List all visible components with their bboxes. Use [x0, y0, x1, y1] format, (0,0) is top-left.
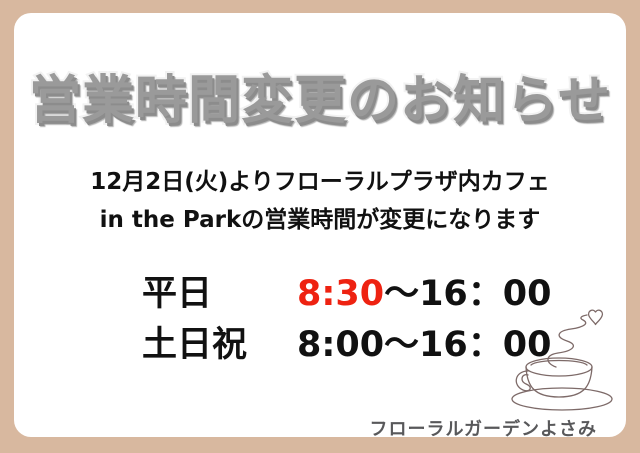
- hours-range-weekend-holiday: 8:00〜16：00: [297, 325, 551, 365]
- business-hours-list: 平日 8:30〜16：00 土日祝 8:00〜16：00: [142, 265, 542, 367]
- announcement-body: 12月2日(火)よりフローラルプラザ内カフェ in the Parkの営業時間が…: [14, 163, 626, 239]
- announcement-line-2: in the Parkの営業時間が変更になります: [14, 201, 626, 239]
- hours-label-weekday: 平日: [142, 265, 297, 316]
- hours-open-time-weekday: 8:30: [297, 274, 384, 314]
- hours-value-weekend-holiday: 8:00〜16：00: [297, 316, 551, 367]
- hours-row-weekend-holiday: 土日祝 8:00〜16：00: [142, 316, 542, 367]
- page-title-container: 営業時間変更のお知らせ: [14, 58, 626, 133]
- poster-card: 営業時間変更のお知らせ 12月2日(火)よりフローラルプラザ内カフェ in th…: [14, 13, 626, 437]
- poster-background: 営業時間変更のお知らせ 12月2日(火)よりフローラルプラザ内カフェ in th…: [0, 0, 640, 453]
- hours-row-weekday: 平日 8:30〜16：00: [142, 265, 542, 316]
- announcement-line-1: 12月2日(火)よりフローラルプラザ内カフェ: [14, 163, 626, 201]
- hours-value-weekday: 8:30〜16：00: [297, 265, 551, 316]
- organization-name: フローラルガーデンよさみ: [14, 415, 597, 437]
- hours-label-weekend-holiday: 土日祝: [142, 316, 297, 367]
- hours-close-time-weekday: 〜16：00: [384, 274, 551, 314]
- page-title: 営業時間変更のお知らせ: [29, 58, 611, 133]
